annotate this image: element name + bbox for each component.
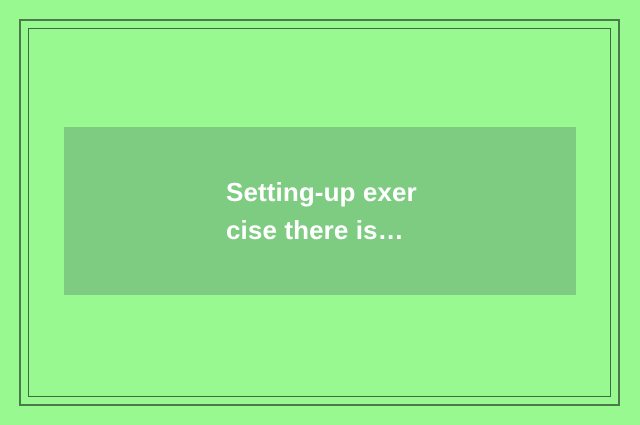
content-panel: Setting-up exer cise there is… <box>64 127 576 295</box>
slide-canvas: Setting-up exer cise there is… <box>0 0 640 425</box>
panel-heading-text: Setting-up exer cise there is… <box>226 173 417 249</box>
